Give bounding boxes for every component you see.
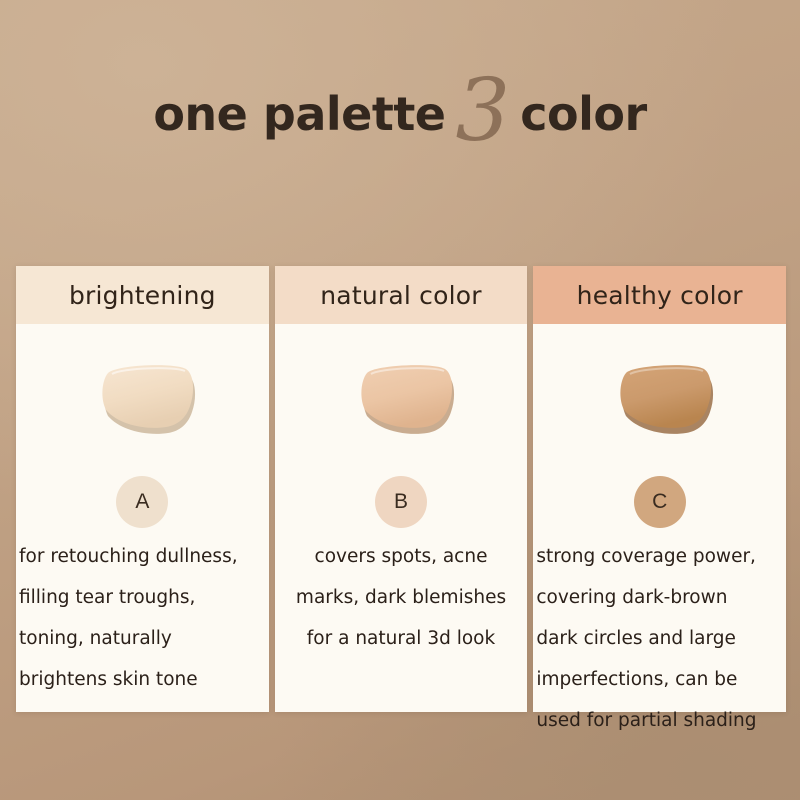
shade-badge-c-label: C [652,490,667,514]
card-b-swatch-area [275,352,528,472]
card-a-line-2: filling tear troughs, [19,577,267,618]
foundation-swatch-icon-b [341,352,461,434]
shade-badge-c: C [634,476,686,528]
shade-card-row: brightening [16,266,786,712]
card-a-line-4: brightens skin tone [19,659,267,700]
card-b-header-label: natural color [320,281,481,310]
title-part-two: color [520,87,646,141]
card-a-header: brightening [16,266,269,324]
card-b-body: B covers spots, acne marks, dark blemish… [275,324,528,712]
card-c-line-4: imperfections, can be [536,659,784,700]
shade-badge-b-label: B [394,490,408,514]
title-part-one: one palette [153,87,445,141]
card-c-line-1: strong coverage power, [536,536,784,577]
card-b-line-1: covers spots, acne [277,536,526,577]
shade-badge-a: A [116,476,168,528]
card-c-line-3: dark circles and large [536,618,784,659]
card-c-swatch-area [533,352,786,472]
card-c-body: C strong coverage power, covering dark-b… [533,324,786,712]
card-c-description: strong coverage power, covering dark-bro… [533,536,786,741]
page-title: one palette3color [0,58,800,144]
card-c-line-5: used for partial shading [536,700,784,741]
card-a-line-1: for retouching dullness, [19,536,267,577]
card-a-line-3: toning, naturally [19,618,267,659]
card-b-description: covers spots, acne marks, dark blemishes… [275,536,528,659]
card-b-line-2: marks, dark blemishes [277,577,526,618]
foundation-swatch-icon-a [82,352,202,434]
card-c-header: healthy color [533,266,786,324]
title-number: 3 [446,61,521,161]
shade-badge-a-label: A [135,490,149,514]
card-a-header-label: brightening [69,281,216,310]
shade-badge-b: B [375,476,427,528]
shade-card-c[interactable]: healthy color [533,266,786,712]
card-a-swatch-area [16,352,269,472]
card-b-line-3: for a natural 3d look [277,618,526,659]
card-a-body: A for retouching dullness, filling tear … [16,324,269,712]
card-c-line-2: covering dark-brown [536,577,784,618]
foundation-swatch-icon-c [600,352,720,434]
shade-card-a[interactable]: brightening [16,266,269,712]
card-b-header: natural color [275,266,528,324]
card-a-description: for retouching dullness, filling tear tr… [16,536,269,700]
card-c-header-label: healthy color [577,281,743,310]
shade-card-b[interactable]: natural color [275,266,528,712]
poster-canvas: one palette3color brightening [0,0,800,800]
